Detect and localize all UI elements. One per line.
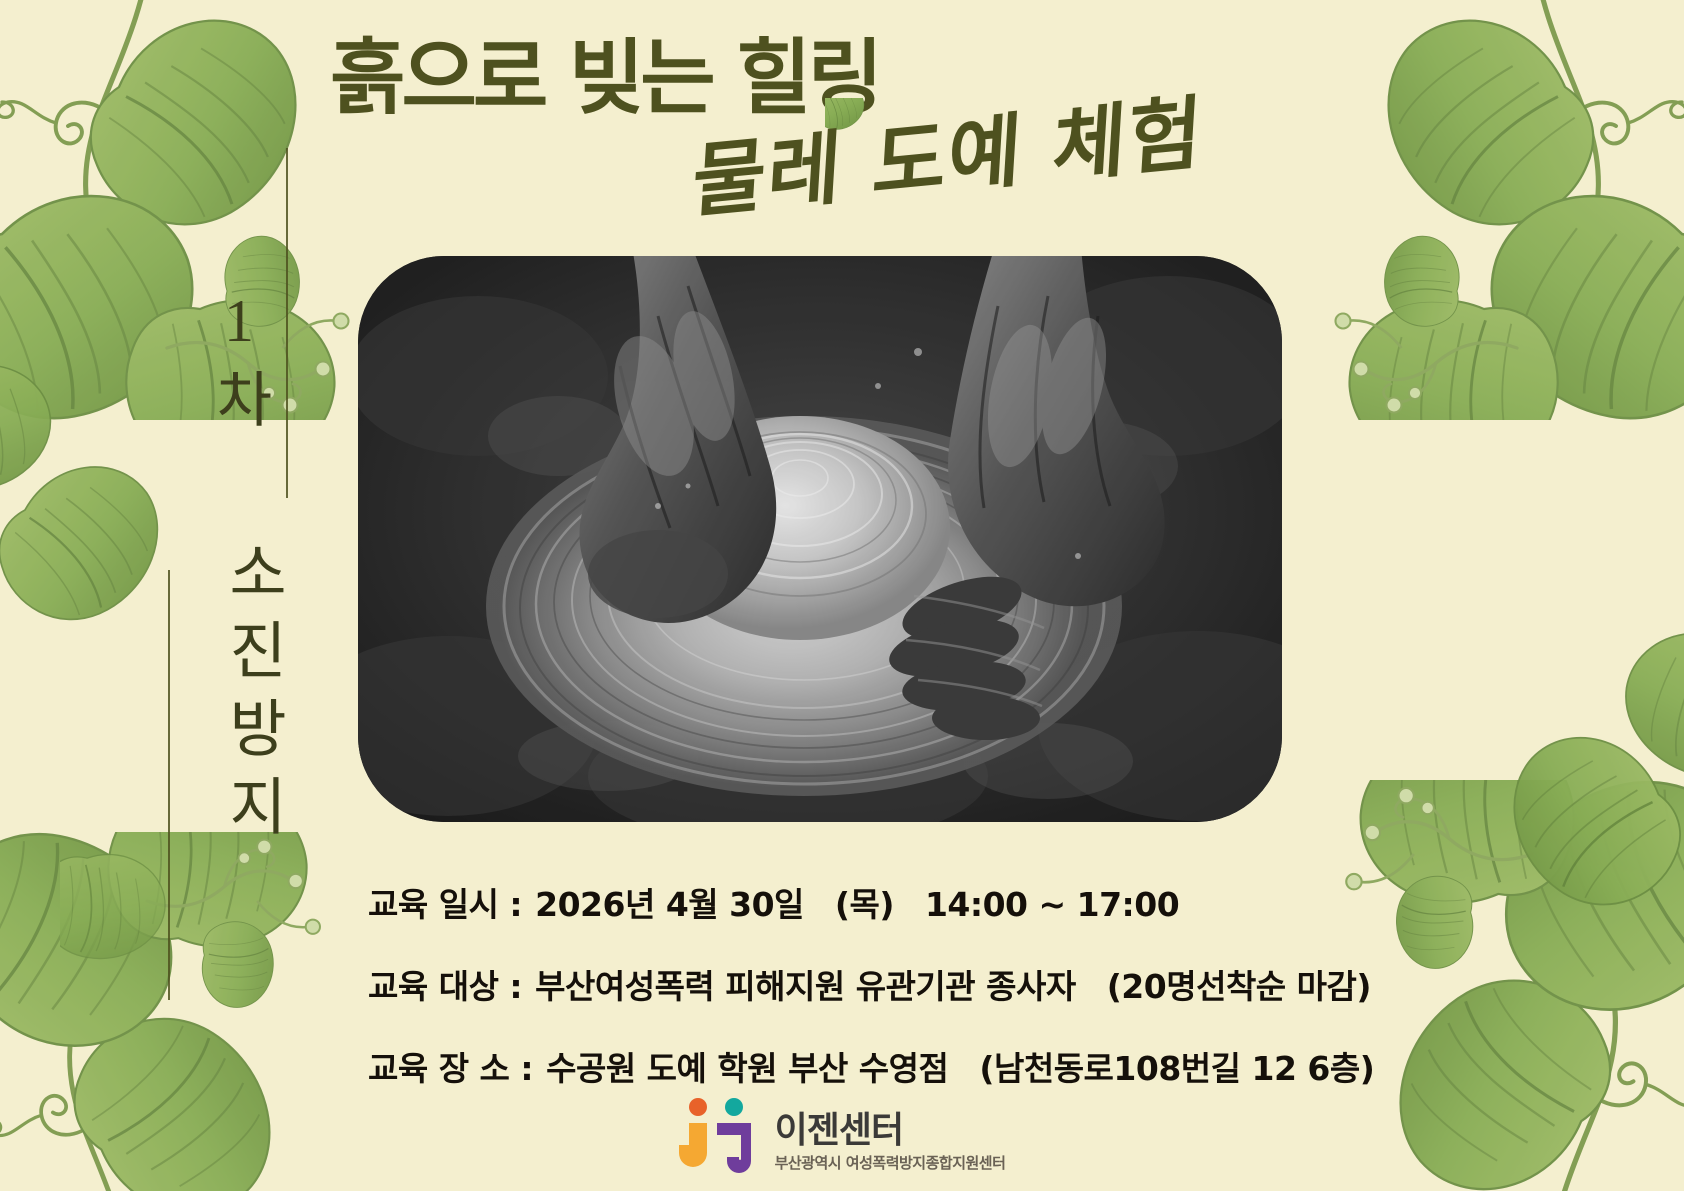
- detail-list: 교육 일시 : 2026년 4월 30일 (목) 14:00 ~ 17:00 교…: [368, 878, 1468, 1124]
- detail-note-datetime: (목): [835, 885, 894, 924]
- detail-row-location: 교육 장 소 : 수공원 도예 학원 부산 수영점 (남천동로108번길 12 …: [368, 1042, 1468, 1090]
- vine-decoration-mid-right: [1484, 620, 1684, 940]
- footer-logo: 이젠센터 부산광역시 여성폭력방지종합지원센터: [0, 1097, 1684, 1173]
- ezen-center-logo-icon: [679, 1097, 765, 1173]
- detail-label-audience: 교육 대상 :: [368, 967, 522, 1006]
- detail-label-location: 교육 장 소 :: [368, 1049, 533, 1088]
- detail-value-audience: 부산여성폭력 피해지원 유관기관 종사자: [535, 967, 1076, 1006]
- theme-label: 소진방지: [206, 540, 296, 852]
- divider-line-top: [286, 148, 288, 498]
- logo-orange-stroke: [679, 1123, 707, 1167]
- detail-value-datetime: 2026년 4월 30일: [535, 885, 804, 924]
- logo-purple-stroke: [717, 1123, 751, 1173]
- logo-orange-dot: [689, 1098, 707, 1116]
- detail-time-range: 14:00 ~ 17:00: [925, 885, 1179, 924]
- detail-row-audience: 교육 대상 : 부산여성폭력 피해지원 유관기관 종사자 (20명선착순 마감): [368, 960, 1468, 1008]
- detail-value-location: 수공원 도예 학원 부산 수영점: [546, 1049, 948, 1088]
- logo-teal-dot: [725, 1098, 743, 1116]
- vine-decoration-mid-left: [0, 330, 190, 630]
- title-line-1: 흙으로 빚는 힐링: [330, 38, 879, 120]
- logo-name: 이젠센터: [775, 1113, 1006, 1149]
- vine-decoration-top-right: [1304, 0, 1684, 370]
- session-label: 1차: [196, 288, 283, 442]
- pottery-photo: [358, 256, 1282, 822]
- poster-title: 흙으로 빚는 힐링 물레 도예 체험: [300, 20, 1350, 250]
- logo-subtitle: 부산광역시 여성폭력방지종합지원센터: [775, 1156, 1006, 1171]
- detail-note-capacity: (20명선착순 마감): [1107, 967, 1371, 1006]
- divider-line-bottom: [168, 570, 170, 1000]
- detail-label-datetime: 교육 일시 :: [368, 885, 522, 924]
- detail-row-datetime: 교육 일시 : 2026년 4월 30일 (목) 14:00 ~ 17:00: [368, 878, 1468, 926]
- side-vertical-label: 1차 소진방지: [168, 140, 298, 1000]
- detail-note-address: (남천동로108번길 12 6층): [979, 1049, 1374, 1088]
- logo-text-block: 이젠센터 부산광역시 여성폭력방지종합지원센터: [775, 1097, 1006, 1171]
- poster-canvas: 흙으로 빚는 힐링 물레 도예 체험 1차 소진방지: [0, 0, 1684, 1191]
